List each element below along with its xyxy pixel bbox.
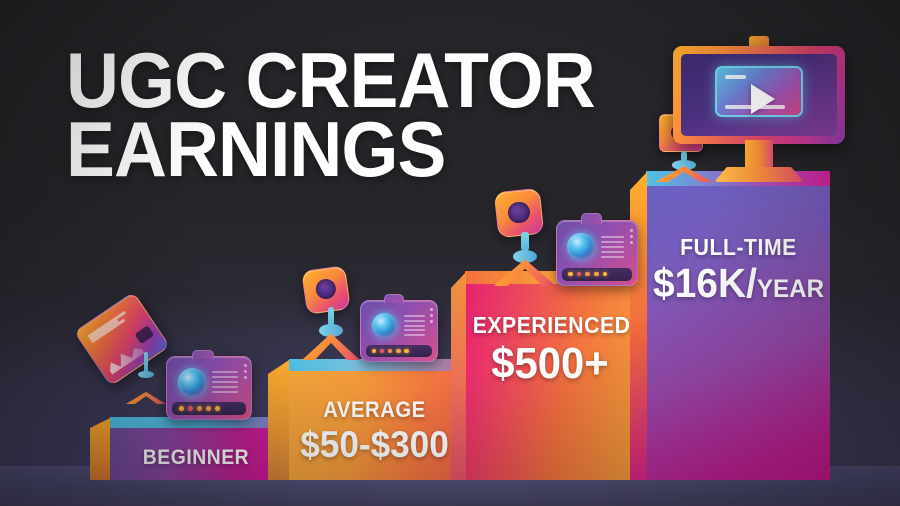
bar-side-face bbox=[90, 418, 110, 480]
page-title: UGC CREATOR EARNINGS bbox=[66, 46, 628, 183]
camera-lens bbox=[567, 233, 594, 260]
monitor-icon bbox=[673, 46, 845, 182]
illustration-full-time bbox=[655, 46, 845, 186]
bar-average: AVERAGE $50-$300 bbox=[268, 360, 460, 480]
ringlight-stem bbox=[521, 232, 528, 251]
tripod-icon bbox=[126, 352, 166, 404]
tripod-hub bbox=[138, 371, 154, 378]
ringlight-icon bbox=[302, 268, 360, 360]
camera-icon bbox=[166, 356, 252, 420]
camera-icon bbox=[360, 300, 438, 362]
bar-tier-label: BEGINNER bbox=[117, 446, 275, 470]
video-progress-bar bbox=[725, 105, 785, 109]
monitor-screen bbox=[681, 54, 837, 136]
ringlight-legs bbox=[494, 256, 556, 286]
title-line-2: EARNINGS bbox=[66, 115, 595, 184]
infographic-canvas: BEGINNER AVERAGE $50-$300 EXPERIENCED $5… bbox=[0, 0, 900, 506]
bar-amount-label: $50-$300 bbox=[293, 426, 455, 463]
tripod-stem bbox=[144, 352, 149, 373]
camera-lens bbox=[178, 368, 207, 397]
bar-label-beginner: BEGINNER bbox=[110, 446, 282, 470]
bar-amount-main: $16K/ bbox=[653, 260, 757, 306]
camera-grille bbox=[601, 236, 624, 258]
bar-tier-label: EXPERIENCED bbox=[473, 312, 628, 339]
tablet-block bbox=[134, 325, 154, 344]
play-icon bbox=[751, 84, 775, 114]
video-window bbox=[715, 66, 802, 117]
monitor-frame bbox=[673, 46, 845, 144]
camera-button-strip bbox=[366, 345, 433, 357]
camera-grille bbox=[212, 371, 237, 393]
video-window-titlebar bbox=[725, 75, 747, 79]
ringlight-legs bbox=[302, 331, 360, 360]
camera-lens bbox=[372, 313, 397, 338]
camera-viewfinder bbox=[192, 350, 214, 360]
camera-icon bbox=[556, 220, 638, 286]
bar-label-average: AVERAGE $50-$300 bbox=[289, 397, 460, 463]
bar-label-experienced: EXPERIENCED $500+ bbox=[466, 312, 634, 386]
bar-amount-label: $500+ bbox=[470, 342, 630, 386]
bar-beginner: BEGINNER bbox=[90, 418, 282, 480]
ringlight-panel bbox=[301, 265, 351, 315]
bar-front-face bbox=[647, 186, 830, 480]
illustration-experienced bbox=[492, 190, 638, 300]
camera-button-strip bbox=[172, 402, 246, 414]
bar-full-time: FULL-TIME $16K/YEAR bbox=[630, 172, 830, 480]
camera-indicator-dots bbox=[630, 229, 633, 244]
monitor-neck bbox=[745, 140, 773, 170]
camera-button-strip bbox=[562, 268, 632, 281]
tripod-legs bbox=[126, 390, 166, 404]
camera-indicator-dots bbox=[244, 364, 247, 379]
bar-side-face-left bbox=[451, 272, 466, 480]
ringlight-panel bbox=[494, 188, 545, 239]
illustration-average bbox=[298, 266, 438, 374]
bar-side-face bbox=[268, 360, 289, 480]
bar-label-full-time: FULL-TIME $16K/YEAR bbox=[647, 234, 830, 304]
bar-experienced: EXPERIENCED $500+ bbox=[451, 272, 657, 480]
camera-viewfinder bbox=[581, 213, 602, 223]
ringlight-icon bbox=[494, 190, 556, 286]
monitor-base bbox=[714, 167, 803, 182]
bar-amount-label: $16K/YEAR bbox=[652, 263, 826, 304]
camera-grille bbox=[404, 315, 425, 335]
bar-tier-label: AVERAGE bbox=[296, 397, 453, 423]
bar-amount-suffix: YEAR bbox=[757, 275, 824, 303]
camera-indicator-dots bbox=[430, 308, 433, 323]
tablet-text-lines bbox=[88, 311, 130, 344]
camera-viewfinder bbox=[384, 294, 404, 304]
bar-tier-label: FULL-TIME bbox=[654, 234, 822, 261]
illustration-beginner bbox=[78, 300, 258, 425]
